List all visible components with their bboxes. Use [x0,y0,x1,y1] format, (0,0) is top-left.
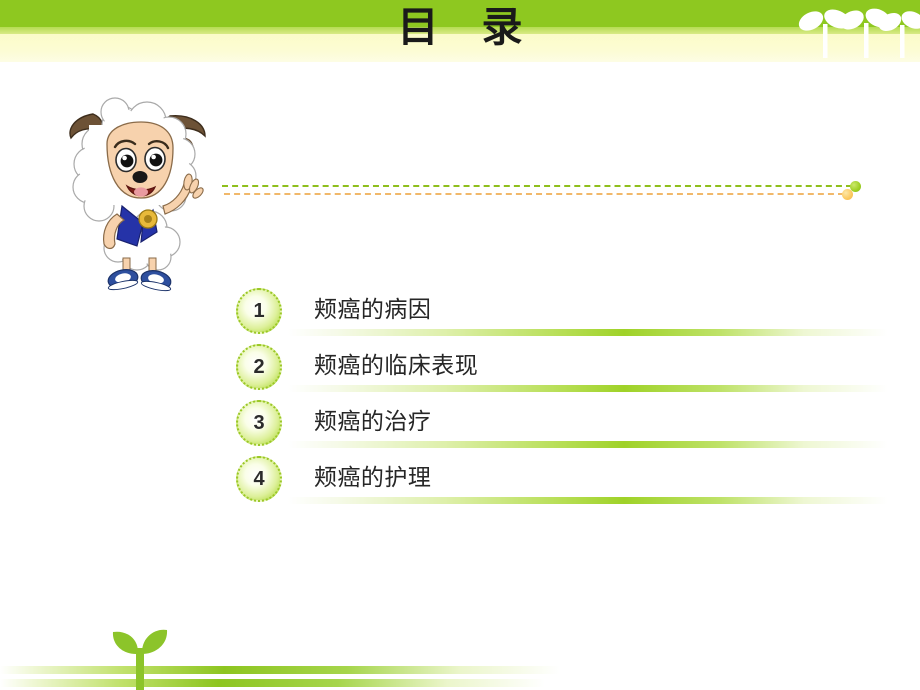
divider-dashed-line-green [222,185,852,187]
toc-item-label: 颊癌的治疗 [314,402,431,436]
toc-item-3[interactable]: 3 颊癌的治疗 [236,400,896,456]
slide-canvas: 目 录 [0,0,920,690]
toc-number-label: 3 [238,402,280,444]
table-of-contents-list: 1 颊癌的病因 2 颊癌的临床表现 3 颊癌的治疗 4 颊癌的护理 [236,288,896,512]
toc-item-2[interactable]: 2 颊癌的临床表现 [236,344,896,400]
divider-end-dot-orange [842,189,853,200]
toc-number-badge: 2 [236,344,282,390]
toc-number-label: 2 [238,346,280,388]
slide-header: 目 录 [0,0,920,62]
footer-bar-lower [0,679,545,687]
toc-number-badge: 4 [236,456,282,502]
mascot-sheep [55,92,230,292]
toc-item-4[interactable]: 4 颊癌的护理 [236,456,896,512]
toc-number-badge: 1 [236,288,282,334]
footer-bar-upper [0,666,560,674]
toc-item-underline [288,441,888,448]
divider-dashed-line-orange [224,193,844,195]
toc-item-label: 颊癌的病因 [314,290,431,324]
sprout-icon [100,620,180,690]
header-sprout-decoration [780,0,920,62]
toc-item-underline [288,497,888,504]
toc-number-label: 4 [238,458,280,500]
toc-item-label: 颊癌的护理 [314,458,431,492]
toc-number-badge: 3 [236,400,282,446]
decorative-divider [222,180,862,202]
toc-item-label: 颊癌的临床表现 [314,346,478,380]
toc-number-label: 1 [238,290,280,332]
toc-item-1[interactable]: 1 颊癌的病因 [236,288,896,344]
toc-item-underline [288,329,888,336]
footer-sprout-decoration [100,620,180,690]
sprout-icon [780,0,920,62]
toc-item-underline [288,385,888,392]
cartoon-sheep-icon [55,92,230,292]
